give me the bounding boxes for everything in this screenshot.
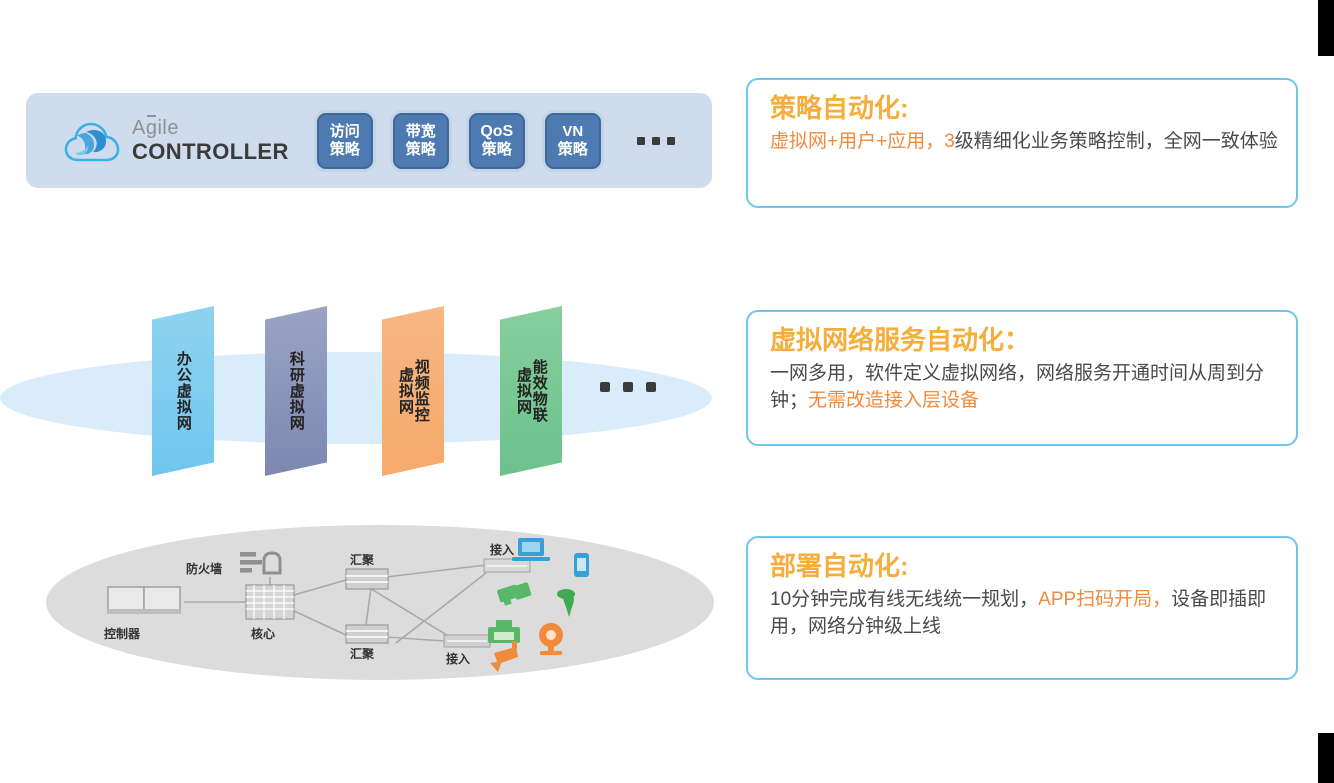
topology-links bbox=[184, 565, 486, 643]
card-policy-automation: 策略自动化: 虚拟网+用户+应用，3级精细化业务策略控制，全网一致体验 bbox=[746, 78, 1298, 208]
plane-label-group: 科研虚拟网 bbox=[265, 306, 327, 476]
topology-label-controller: 控制器 bbox=[104, 625, 140, 642]
plane-label-right: 能效物联 bbox=[531, 359, 547, 423]
card-body: 虚拟网+用户+应用，3级精细化业务策略控制，全网一致体验 bbox=[770, 128, 1278, 156]
handheld-scanner-icon[interactable] bbox=[497, 582, 532, 606]
plane-label-group: 虚拟网 视频监控 bbox=[382, 306, 444, 476]
card-body-part-normal: 10分钟完成有线无线统一规划， bbox=[770, 589, 1038, 610]
policy-chip-group: 访问 策略 带宽 策略 QoS 策略 VN 策略 bbox=[317, 113, 675, 169]
plane-label-left: 虚拟网 bbox=[397, 367, 413, 415]
chip-vn-policy[interactable]: VN 策略 bbox=[545, 113, 601, 169]
plane-research-vn[interactable]: 科研虚拟网 bbox=[265, 306, 327, 476]
topology-label-agg-top: 汇聚 bbox=[350, 551, 374, 568]
card-title: 策略自动化: bbox=[770, 94, 1278, 124]
webcam-icon[interactable] bbox=[539, 623, 563, 655]
plane-office-vn[interactable]: 办公虚拟网 bbox=[152, 306, 214, 476]
plane-label-group: 虚拟网 能效物联 bbox=[500, 306, 562, 476]
firewall-node-icon[interactable] bbox=[240, 552, 280, 573]
card-body-part-normal: 级精细化业务策略控制，全网一致体验 bbox=[955, 131, 1278, 152]
card-virtual-network-service-automation: 虚拟网络服务自动化： 一网多用，软件定义虚拟网络，网络服务开通时间从周到分钟；无… bbox=[746, 310, 1298, 446]
chip-qos-policy[interactable]: QoS 策略 bbox=[469, 113, 525, 169]
controller-node-icon[interactable] bbox=[108, 587, 180, 614]
card-body-part-highlight: 虚拟网+用户+应用，3 bbox=[770, 131, 955, 152]
chip-line1: 带宽 bbox=[406, 123, 436, 140]
cloud-swirl-icon bbox=[64, 118, 120, 164]
smartphone-icon[interactable] bbox=[574, 553, 589, 577]
chip-line1: QoS bbox=[480, 123, 513, 141]
sensor-icon[interactable] bbox=[557, 589, 575, 617]
logo-wordmark: Agile CONTROLLER bbox=[132, 118, 289, 163]
agile-controller-logo: Agile CONTROLLER bbox=[64, 118, 289, 164]
virtual-network-stage: 办公虚拟网 科研虚拟网 虚拟网 视频监控 虚拟网 能效物联 bbox=[0, 290, 720, 505]
top-right-black-bar bbox=[1318, 0, 1334, 56]
logo-brand-bottom: CONTROLLER bbox=[132, 141, 289, 163]
chip-line2: 策略 bbox=[482, 141, 512, 158]
plane-label-group: 办公虚拟网 bbox=[152, 306, 214, 476]
slide-canvas: Agile CONTROLLER 访问 策略 带宽 策略 QoS 策略 VN 策… bbox=[0, 0, 1334, 783]
chip-line2: 策略 bbox=[330, 141, 360, 158]
core-switch-node-icon[interactable] bbox=[246, 585, 294, 619]
access-bottom-node-icon[interactable] bbox=[444, 635, 490, 647]
security-camera-icon[interactable] bbox=[490, 641, 518, 672]
topology-stage: 控制器 防火墙 核心 汇聚 汇聚 接入 接入 bbox=[46, 525, 726, 685]
plane-label-left: 虚拟网 bbox=[515, 367, 531, 415]
topology-label-access-bottom: 接入 bbox=[446, 650, 470, 667]
topology-label-access-top: 接入 bbox=[490, 541, 514, 558]
chip-line1: VN bbox=[562, 123, 583, 140]
plane-label-right: 科研虚拟网 bbox=[288, 351, 304, 431]
topology-label-agg-bottom: 汇聚 bbox=[350, 645, 374, 662]
logo-brand-top: Agile bbox=[132, 118, 289, 138]
virtual-network-ellipse bbox=[0, 352, 712, 444]
plane-label-right: 办公虚拟网 bbox=[175, 351, 191, 431]
virtual-network-more-ellipsis-icon bbox=[600, 382, 656, 392]
plane-label-right: 视频监控 bbox=[413, 359, 429, 423]
card-body: 10分钟完成有线无线统一规划，APP扫码开局，设备即插即用，网络分钟级上线 bbox=[770, 586, 1278, 641]
aggregation-bottom-node-icon[interactable] bbox=[346, 625, 388, 643]
topology-label-firewall: 防火墙 bbox=[186, 560, 222, 577]
card-title: 部署自动化: bbox=[770, 552, 1278, 582]
card-title: 虚拟网络服务自动化： bbox=[770, 326, 1278, 356]
chip-line1: 访问 bbox=[330, 123, 360, 140]
plane-video-surveillance-vn[interactable]: 虚拟网 视频监控 bbox=[382, 306, 444, 476]
plane-energy-iot-vn[interactable]: 虚拟网 能效物联 bbox=[500, 306, 562, 476]
card-body: 一网多用，软件定义虚拟网络，网络服务开通时间从周到分钟；无需改造接入层设备 bbox=[770, 360, 1278, 415]
laptop-icon[interactable] bbox=[512, 538, 550, 561]
chip-line2: 策略 bbox=[406, 141, 436, 158]
card-deployment-automation: 部署自动化: 10分钟完成有线无线统一规划，APP扫码开局，设备即插即用，网络分… bbox=[746, 536, 1298, 680]
policy-more-ellipsis-icon bbox=[637, 137, 675, 145]
bottom-right-black-bar bbox=[1318, 733, 1334, 783]
agile-controller-bar: Agile CONTROLLER 访问 策略 带宽 策略 QoS 策略 VN 策… bbox=[26, 93, 712, 188]
chip-bandwidth-policy[interactable]: 带宽 策略 bbox=[393, 113, 449, 169]
printer-icon[interactable] bbox=[488, 620, 520, 643]
topology-graph bbox=[46, 525, 714, 680]
chip-access-policy[interactable]: 访问 策略 bbox=[317, 113, 373, 169]
aggregation-top-node-icon[interactable] bbox=[346, 569, 388, 589]
card-body-part-highlight: 无需改造接入层设备 bbox=[808, 390, 979, 411]
card-body-part-highlight: APP扫码开局， bbox=[1038, 589, 1171, 610]
chip-line2: 策略 bbox=[558, 141, 588, 158]
topology-label-core: 核心 bbox=[251, 625, 275, 642]
